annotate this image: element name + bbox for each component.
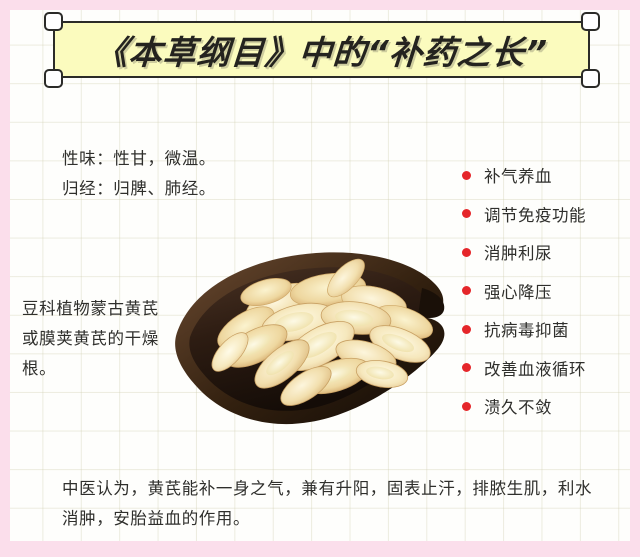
list-item: 补气养血 [462, 156, 630, 195]
resize-handle-bottom-right[interactable] [581, 69, 600, 88]
list-item: 抗病毒抑菌 [462, 310, 630, 349]
bullet-dot-icon [462, 363, 471, 372]
list-item: 消肿利尿 [462, 233, 630, 272]
summary-paragraph: 中医认为，黄芪能补一身之气，兼有升阳，固表止汗，排脓生肌，利水消肿，安胎益血的作… [62, 474, 602, 534]
bullet-dot-icon [462, 248, 471, 257]
resize-handle-top-left[interactable] [44, 12, 63, 31]
list-item: 调节免疫功能 [462, 195, 630, 234]
list-item: 溃久不敛 [462, 387, 630, 426]
astragalus-photo [160, 218, 460, 440]
resize-handle-top-right[interactable] [581, 12, 600, 31]
title-banner: 《本草纲目》中的“补药之长” [53, 21, 590, 78]
poster-frame: 《本草纲目》中的“补药之长” 性味：性甘，微温。 归经：归脾、肺经。 豆科植物蒙… [0, 0, 640, 557]
benefit-label: 调节免疫功能 [484, 202, 586, 226]
benefit-label: 补气养血 [484, 163, 552, 187]
list-item: 改善血液循环 [462, 349, 630, 388]
title-banner-group: 《本草纲目》中的“补药之长” [53, 21, 590, 78]
page-title: 《本草纲目》中的“补药之长” [94, 26, 550, 74]
list-item: 强心降压 [462, 272, 630, 311]
bullet-dot-icon [462, 325, 471, 334]
benefit-label: 改善血液循环 [484, 356, 586, 380]
benefit-label: 抗病毒抑菌 [484, 317, 569, 341]
benefit-label: 消肿利尿 [484, 240, 552, 264]
bullet-dot-icon [462, 171, 471, 180]
properties-text: 性味：性甘，微温。 归经：归脾、肺经。 [62, 144, 216, 204]
grid-paper-canvas: 《本草纲目》中的“补药之长” 性味：性甘，微温。 归经：归脾、肺经。 豆科植物蒙… [10, 10, 630, 541]
benefits-list: 补气养血 调节免疫功能 消肿利尿 强心降压 抗病毒抑菌 改善血液循环 [462, 156, 630, 426]
benefit-label: 溃久不敛 [484, 394, 552, 418]
benefit-label: 强心降压 [484, 279, 552, 303]
bullet-dot-icon [462, 286, 471, 295]
source-text: 豆科植物蒙古黄芪或膜荚黄芪的干燥根。 [22, 294, 172, 384]
bullet-dot-icon [462, 402, 471, 411]
resize-handle-bottom-left[interactable] [44, 69, 63, 88]
bullet-dot-icon [462, 209, 471, 218]
